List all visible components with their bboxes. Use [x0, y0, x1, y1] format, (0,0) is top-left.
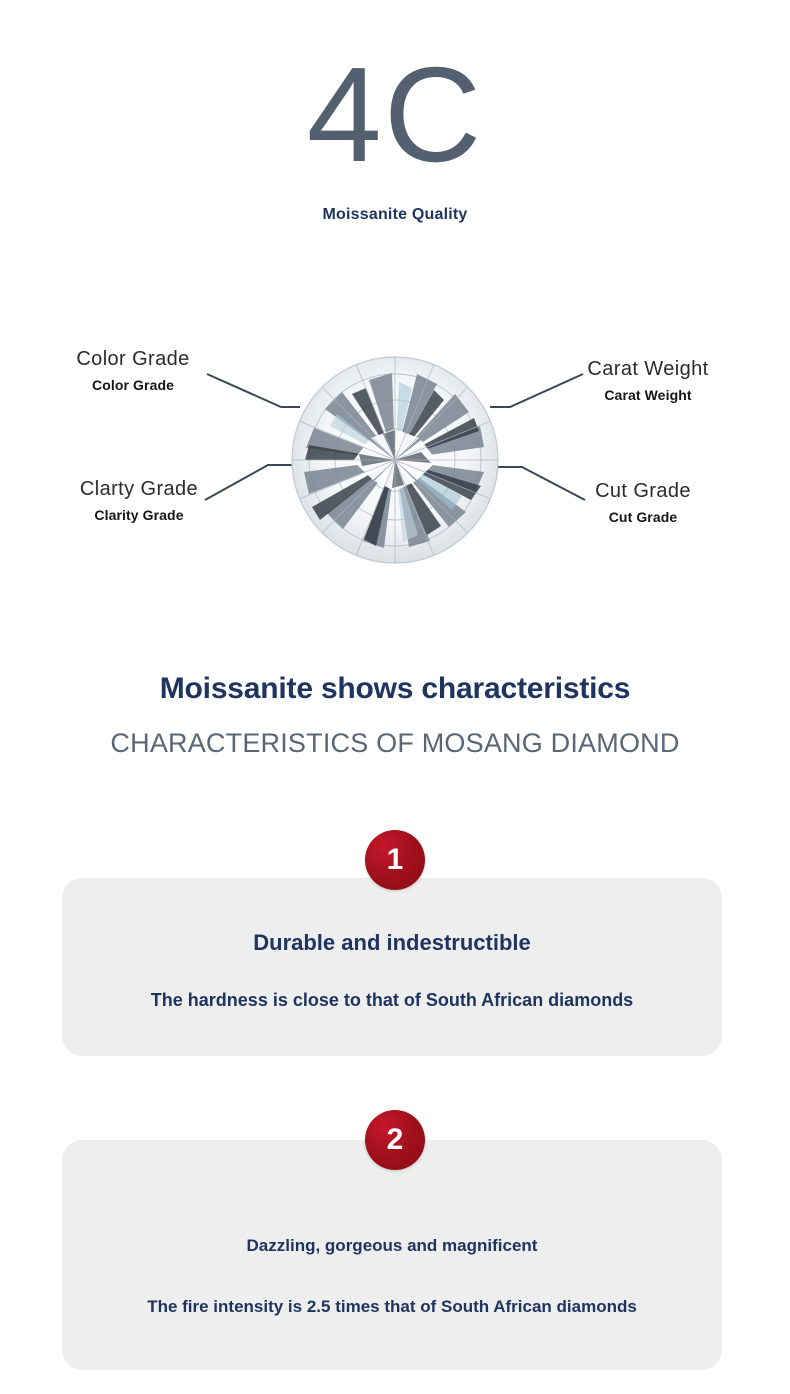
- label-clarity-grade: Clarty Grade Clarity Grade: [24, 478, 254, 523]
- label-color-grade-light: Color Grade: [18, 348, 248, 371]
- feature-card-2-description: The fire intensity is 2.5 times that of …: [62, 1297, 722, 1317]
- label-clarity-grade-light: Clarty Grade: [24, 478, 254, 501]
- feature-badge-1: 1: [365, 830, 425, 890]
- section-heading: Moissanite shows characteristics: [0, 672, 790, 706]
- label-cut-grade: Cut Grade Cut Grade: [528, 480, 758, 525]
- feature-badge-2: 2: [365, 1110, 425, 1170]
- diamond-gem-icon: [292, 357, 498, 563]
- label-cut-grade-bold: Cut Grade: [528, 509, 758, 525]
- label-clarity-grade-bold: Clarity Grade: [24, 507, 254, 523]
- feature-card-1-description: The hardness is close to that of South A…: [62, 990, 722, 1011]
- feature-card-2-title: Dazzling, gorgeous and magnificent: [62, 1236, 722, 1256]
- section-heading-block: Moissanite shows characteristics CHARACT…: [0, 672, 790, 759]
- hero-section: 4C Moissanite Quality: [0, 46, 790, 224]
- section-subheading: CHARACTERISTICS OF MOSANG DIAMOND: [0, 728, 790, 759]
- label-carat-weight-bold: Carat Weight: [533, 387, 763, 403]
- hero-subtitle: Moissanite Quality: [0, 206, 790, 224]
- label-color-grade: Color Grade Color Grade: [18, 348, 248, 393]
- page-root: 4C Moissanite Quality: [0, 0, 790, 1394]
- feature-card-1-body: Durable and indestructible The hardness …: [62, 878, 722, 1056]
- label-color-grade-bold: Color Grade: [18, 377, 248, 393]
- diamond-diagram: Color Grade Color Grade Clarty Grade Cla…: [0, 330, 790, 590]
- feature-card-1-title: Durable and indestructible: [62, 930, 722, 956]
- label-carat-weight-light: Carat Weight: [533, 358, 763, 381]
- feature-card-2-body: Dazzling, gorgeous and magnificent The f…: [62, 1140, 722, 1370]
- label-cut-grade-light: Cut Grade: [528, 480, 758, 503]
- label-carat-weight: Carat Weight Carat Weight: [533, 358, 763, 403]
- page-title: 4C: [0, 46, 790, 184]
